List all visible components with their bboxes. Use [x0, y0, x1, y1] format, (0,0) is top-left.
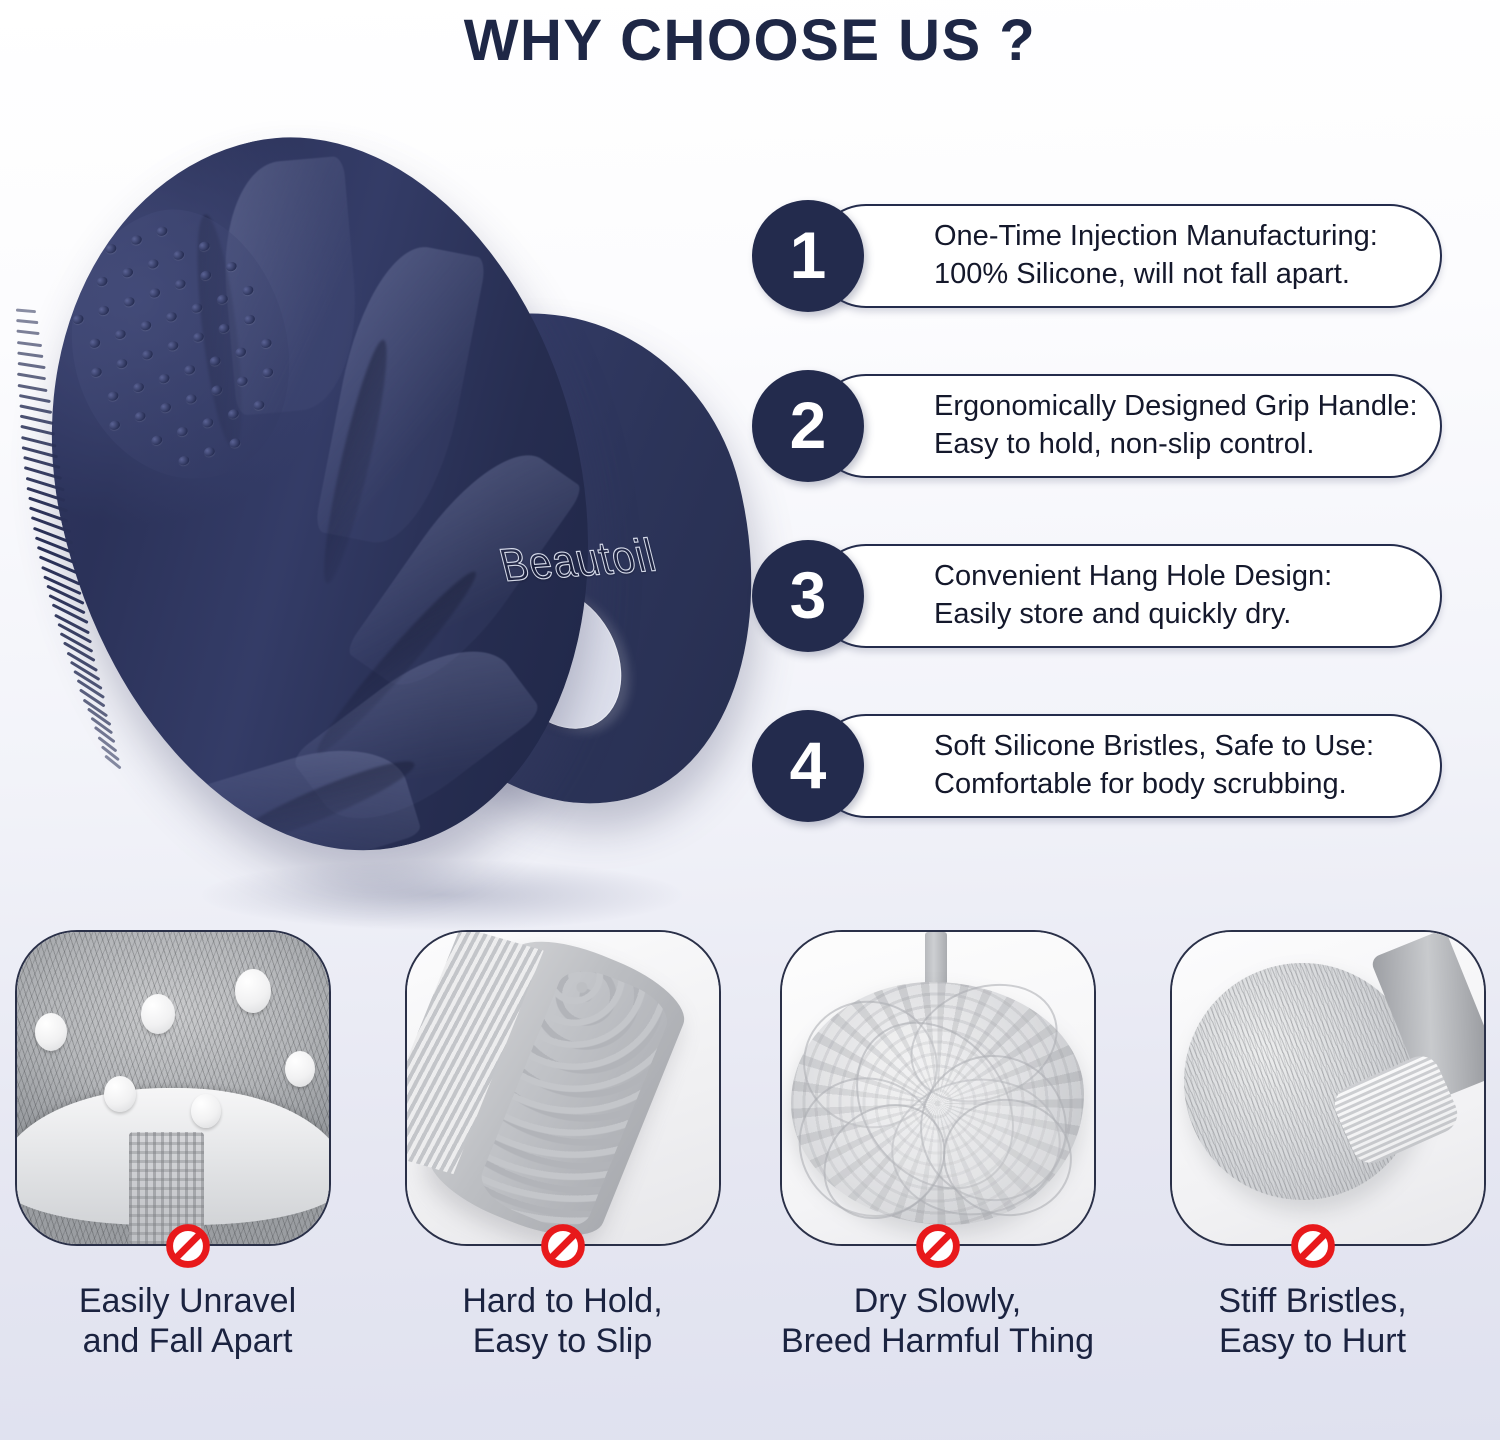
massage-nub [260, 337, 273, 349]
massage-nub [130, 234, 143, 246]
massage-nub [199, 269, 212, 281]
comparison-caption: Dry Slowly, Breed Harmful Thing [781, 1281, 1094, 1361]
feature-text-block: Convenient Hang Hole Design: Easily stor… [934, 558, 1366, 633]
feature-card: One-Time Injection Manufacturing: 100% S… [814, 204, 1442, 308]
silicone-bristle [17, 351, 43, 358]
massage-nub [71, 313, 84, 325]
caption-line-2: and Fall Apart [79, 1321, 296, 1361]
comparison-photo [15, 930, 331, 1246]
silicone-bristle [16, 308, 36, 313]
feature-number-badge: 1 [752, 200, 864, 312]
caption-line-1: Dry Slowly, [781, 1281, 1094, 1321]
massage-nub [201, 417, 214, 429]
massage-nub [176, 425, 189, 437]
massage-nub [148, 287, 161, 299]
massage-nub [225, 261, 238, 273]
feature-text-block: One-Time Injection Manufacturing: 100% S… [934, 218, 1412, 293]
massage-nub [88, 337, 101, 349]
feature-subtitle: Easy to hold, non-slip control. [934, 426, 1418, 464]
massage-nub [108, 419, 121, 431]
feature-title: Convenient Hang Hole Design: [934, 558, 1332, 596]
feature-subtitle: Easily store and quickly dry. [934, 596, 1332, 634]
massage-nub [190, 302, 203, 314]
page-title: WHY CHOOSE US ? [464, 7, 1036, 74]
massage-nub [216, 293, 229, 305]
massage-nub [115, 357, 128, 369]
massage-nub [252, 399, 265, 411]
massage-nub [174, 278, 187, 290]
massage-nub [133, 410, 146, 422]
feature-number: 4 [790, 732, 827, 798]
massage-nub [141, 349, 154, 361]
silicone-bristle [20, 415, 54, 425]
comparison-caption: Hard to Hold, Easy to Slip [462, 1281, 662, 1361]
silicone-bristle [16, 330, 39, 336]
massage-nub [234, 346, 247, 358]
infographic-canvas: WHY CHOOSE US ? [0, 0, 1500, 1440]
massage-nub [104, 243, 117, 255]
massage-nub [97, 304, 110, 316]
feature-card: Ergonomically Designed Grip Handle: Easy… [814, 374, 1442, 478]
caption-line-1: Easily Unravel [79, 1281, 296, 1321]
feature-text-block: Soft Silicone Bristles, Safe to Use: Com… [934, 728, 1408, 803]
white-bristle-tip [285, 1051, 315, 1087]
comparison-item: Easily Unravel and Fall Apart [0, 930, 375, 1440]
feature-number-badge: 2 [752, 370, 864, 482]
silicone-bristle [18, 383, 48, 391]
feature-title: Soft Silicone Bristles, Safe to Use: [934, 728, 1374, 766]
feature-item: Soft Silicone Bristles, Safe to Use: Com… [752, 710, 1452, 822]
comparison-strip: Easily Unravel and Fall Apart Hard to [0, 930, 1500, 1440]
feature-number: 3 [790, 562, 827, 628]
massage-nub [121, 267, 134, 279]
feature-title: One-Time Injection Manufacturing: [934, 218, 1378, 256]
massage-nub [210, 384, 223, 396]
massage-nub [157, 373, 170, 385]
silicone-bristle [16, 319, 38, 324]
massage-nub [146, 258, 159, 270]
silicone-bristle [17, 362, 45, 369]
comparison-item: Hard to Hold, Easy to Slip [375, 930, 750, 1440]
caption-line-2: Easy to Slip [462, 1321, 662, 1361]
silicone-brush-illustration: Beautoil [52, 125, 692, 895]
white-bristle-tip [104, 1076, 136, 1112]
massage-nub [208, 355, 221, 367]
title-bar: WHY CHOOSE US ? [0, 0, 1500, 80]
no-entry-icon [540, 1223, 586, 1269]
feature-item: Convenient Hang Hole Design: Easily stor… [752, 540, 1452, 652]
massage-nub [166, 340, 179, 352]
silicone-bristle [39, 556, 79, 575]
massage-nub [106, 390, 119, 402]
silicone-bristle [17, 373, 46, 381]
feature-number-badge: 3 [752, 540, 864, 652]
massage-nub [217, 322, 230, 334]
comparison-item: Stiff Bristles, Easy to Hurt [1125, 930, 1500, 1440]
massage-nub [241, 284, 254, 296]
feature-item: Ergonomically Designed Grip Handle: Easy… [752, 370, 1452, 482]
silicone-bristle [21, 436, 57, 448]
massage-nub [198, 240, 211, 252]
massage-nub [150, 434, 163, 446]
caption-line-1: Hard to Hold, [462, 1281, 662, 1321]
massage-nub [172, 249, 185, 261]
feature-item: One-Time Injection Manufacturing: 100% S… [752, 200, 1452, 312]
no-entry-icon [1290, 1223, 1336, 1269]
massage-nub [132, 381, 145, 393]
massage-nub [114, 328, 127, 340]
massage-nub [95, 275, 108, 287]
massage-nub [261, 366, 274, 378]
massage-nub [122, 296, 135, 308]
massage-nub [183, 364, 196, 376]
feature-title: Ergonomically Designed Grip Handle: [934, 388, 1418, 426]
massage-nub [203, 446, 216, 458]
massage-nub [236, 375, 249, 387]
loofah-pouf [791, 982, 1084, 1225]
hero-product-image: Beautoil [0, 85, 740, 925]
silicone-bristle [19, 404, 52, 414]
silicone-bristle [18, 394, 50, 403]
feature-card: Convenient Hang Hole Design: Easily stor… [814, 544, 1442, 648]
feature-text-block: Ergonomically Designed Grip Handle: Easy… [934, 388, 1452, 463]
massage-nub [228, 437, 241, 449]
comparison-item: Dry Slowly, Breed Harmful Thing [750, 930, 1125, 1440]
feature-number: 1 [790, 222, 827, 288]
caption-line-2: Breed Harmful Thing [781, 1321, 1094, 1361]
massage-nub [90, 366, 103, 378]
comparison-photo [780, 930, 1096, 1246]
caption-line-1: Stiff Bristles, [1218, 1281, 1406, 1321]
no-entry-icon [165, 1223, 211, 1269]
feature-list: One-Time Injection Manufacturing: 100% S… [752, 200, 1452, 880]
caption-line-2: Easy to Hurt [1218, 1321, 1406, 1361]
comparison-photo [405, 930, 721, 1246]
massage-nub [139, 320, 152, 332]
white-bristle-tip [235, 969, 271, 1013]
no-entry-icon [915, 1223, 961, 1269]
massage-nub [227, 408, 240, 420]
massage-nub [184, 393, 197, 405]
feature-subtitle: 100% Silicone, will not fall apart. [934, 256, 1378, 294]
massage-nub [243, 313, 256, 325]
feature-subtitle: Comfortable for body scrubbing. [934, 766, 1374, 804]
massage-nub [165, 311, 178, 323]
massage-nub [192, 331, 205, 343]
silicone-bristle [20, 425, 55, 436]
massage-nub [155, 225, 168, 237]
comparison-photo [1170, 930, 1486, 1246]
feature-number: 2 [790, 392, 827, 458]
comparison-caption: Stiff Bristles, Easy to Hurt [1218, 1281, 1406, 1361]
silicone-bristle [35, 536, 75, 554]
feature-number-badge: 4 [752, 710, 864, 822]
silicone-bristle [17, 341, 42, 347]
massage-nub [177, 455, 190, 467]
massage-nub [159, 402, 172, 414]
feature-card: Soft Silicone Bristles, Safe to Use: Com… [814, 714, 1442, 818]
comparison-caption: Easily Unravel and Fall Apart [79, 1281, 296, 1361]
